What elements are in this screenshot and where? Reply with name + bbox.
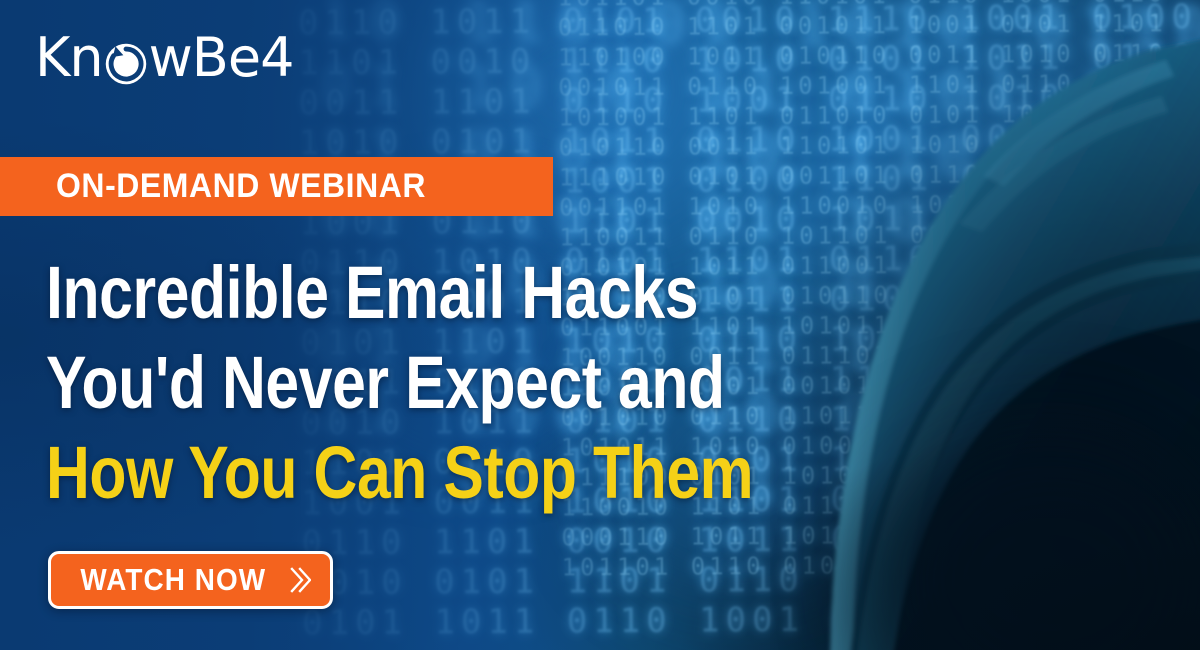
webinar-promo-banner: 10 110 01 1010 0110 1 01 01 1010 11 0101… xyxy=(0,0,1200,650)
eyebrow-badge: ON-DEMAND WEBINAR xyxy=(0,157,553,216)
watch-now-button[interactable]: WATCH NOW xyxy=(48,551,333,609)
circular-arrow-icon xyxy=(104,42,148,86)
headline-line-2: You'd Never Expect and xyxy=(46,338,753,428)
logo-text-before: Kn xyxy=(35,31,103,85)
headline-line-3: How You Can Stop Them xyxy=(46,428,753,518)
banner-content: Kn wBe4 ON-DEMAND WEBINAR Incredible Ema… xyxy=(0,0,1200,650)
double-chevron-right-icon xyxy=(289,565,311,595)
eyebrow-label: ON-DEMAND WEBINAR xyxy=(56,167,426,206)
logo-text-after: wBe4 xyxy=(149,31,294,85)
watch-now-label: WATCH NOW xyxy=(81,562,267,598)
logo-wordmark: Kn wBe4 xyxy=(35,31,293,85)
headline-line-1: Incredible Email Hacks xyxy=(46,248,753,338)
knowbe4-logo[interactable]: Kn wBe4 xyxy=(35,28,293,88)
headline: Incredible Email Hacks You'd Never Expec… xyxy=(46,248,908,518)
